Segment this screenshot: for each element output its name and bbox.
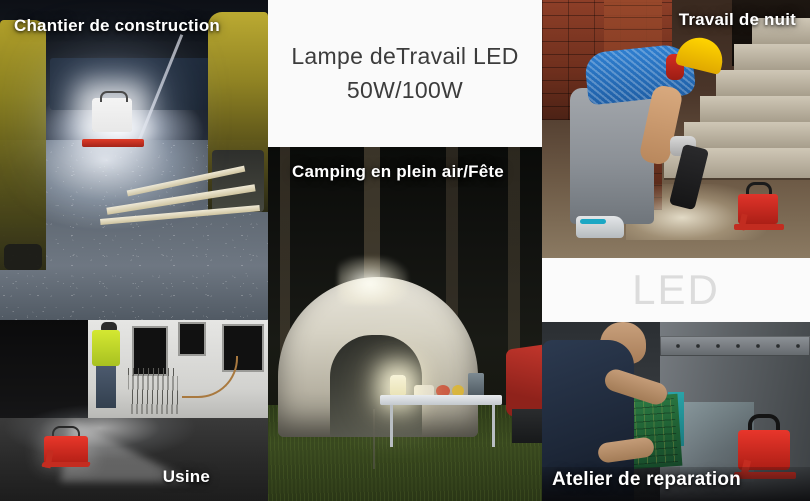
caption-camping: Camping en plein air/Fête: [292, 162, 504, 182]
led-watermark-band: LED: [542, 258, 810, 322]
caption-factory: Usine: [163, 467, 210, 487]
camping-table: [380, 395, 502, 405]
product-title-band: Lampe deTravail LED 50W/100W: [268, 0, 542, 147]
camping-chair: [506, 344, 542, 418]
construction-worker-right-boot: [212, 150, 264, 212]
stair-step: [700, 96, 810, 122]
led-work-light: [92, 98, 132, 132]
factory-worker-hiviz-vest: [92, 330, 120, 366]
product-title-line-2: 50W/100W: [347, 77, 463, 104]
panel-camping: Camping en plein air/Fête: [268, 147, 542, 501]
product-collage: Chantier de construction Usine: [0, 0, 810, 501]
caption-repair-workshop: Atelier de reparation: [552, 469, 741, 491]
caption-night-work: Travail de nuit: [679, 10, 796, 30]
night-worker: [570, 26, 706, 240]
camping-tent-seam: [373, 409, 375, 469]
camping-table-leg: [390, 405, 393, 447]
led-work-light-base: [82, 139, 144, 147]
factory-worker-legs: [96, 366, 116, 408]
camping-chair-legs: [512, 409, 542, 443]
panel-repair-workshop: Atelier de reparation: [542, 322, 810, 501]
caption-construction-site: Chantier de construction: [14, 16, 220, 36]
led-work-light: [44, 428, 88, 468]
stair-step: [734, 44, 810, 70]
led-work-light-foot: [734, 224, 784, 230]
night-worker-shoe: [576, 216, 624, 238]
panel-night-work: Travail de nuit: [542, 0, 810, 258]
construction-worker-left: [0, 20, 46, 270]
led-work-light: [738, 184, 782, 238]
camping-table-leg: [492, 405, 495, 447]
panel-construction-site: Chantier de construction: [0, 0, 268, 320]
camping-tent-glow: [338, 257, 408, 305]
factory-worker: [92, 322, 120, 410]
led-watermark-text: LED: [632, 266, 720, 314]
product-title-line-1: Lampe deTravail LED: [291, 43, 518, 70]
camping-stove: [468, 373, 484, 397]
led-work-light-foot: [41, 462, 91, 467]
factory-cables: [128, 368, 178, 414]
led-lantern: [390, 375, 406, 397]
camping-tent-door: [330, 335, 422, 437]
panel-factory: Usine: [0, 320, 268, 501]
repair-machine-bolts: [670, 340, 810, 352]
stair-step: [716, 70, 810, 96]
construction-truck: [50, 58, 230, 110]
factory-electrical-panel: [178, 322, 206, 356]
